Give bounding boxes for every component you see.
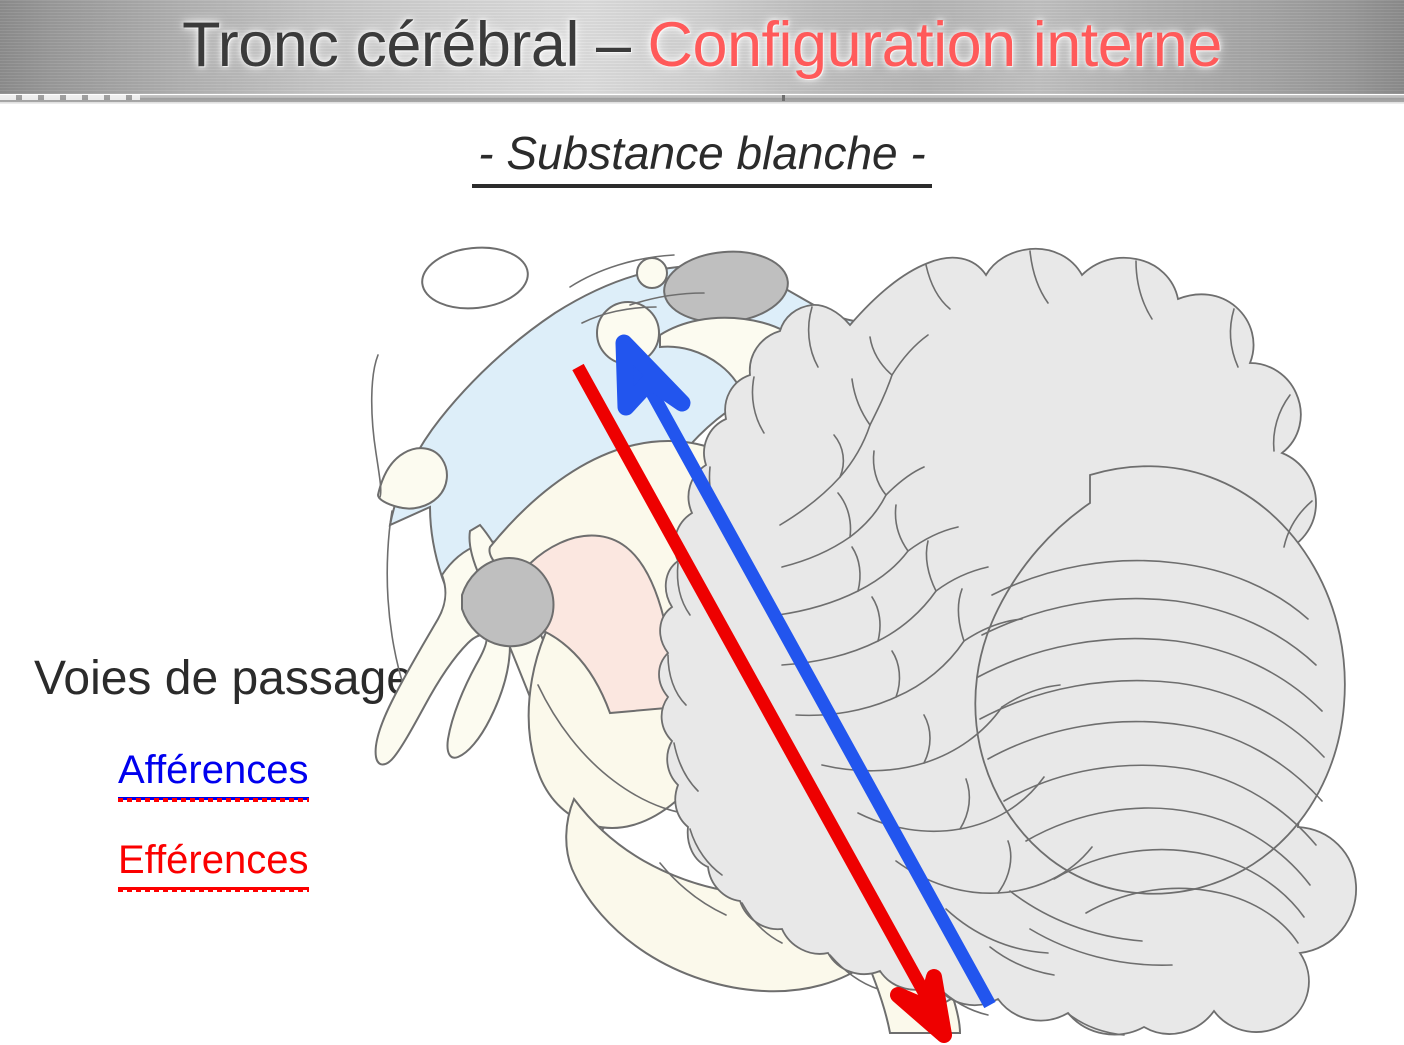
habenular-nucleus: [637, 258, 667, 288]
page-title-primary: Tronc cérébral –: [182, 10, 647, 80]
title-banner-dot: [782, 95, 785, 101]
cerebellum-region: [659, 249, 1356, 1035]
massa-intermedia-oval: [419, 243, 531, 314]
title-banner-ticks: [0, 95, 140, 100]
page-title: Tronc cérébral – Configuration interne: [0, 6, 1404, 84]
title-banner-underline: [0, 94, 1404, 104]
slide-subtitle: - Substance blanche -: [0, 124, 1404, 188]
page-title-accent: Configuration interne: [647, 10, 1221, 80]
brainstem-figure-svg: .ol { stroke:#6E6E6E; stroke-width:2; fi…: [330, 195, 1380, 1045]
brainstem-cerebellum-diagram: .ol { stroke:#6E6E6E; stroke-width:2; fi…: [330, 195, 1380, 1045]
legend-item-efferences-label: Efférences: [118, 836, 309, 890]
legend-item-afferences-label: Afférences: [118, 746, 309, 800]
slide-subtitle-text: - Substance blanche -: [472, 124, 932, 188]
